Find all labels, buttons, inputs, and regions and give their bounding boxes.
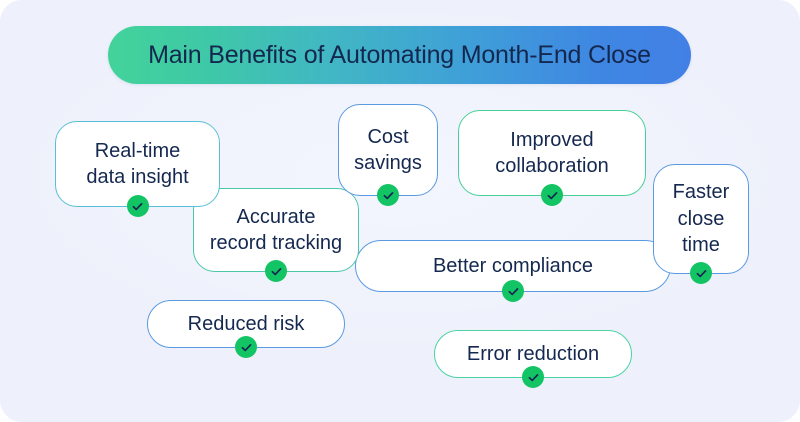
benefit-label: Improved collaboration bbox=[495, 127, 608, 180]
benefit-card-faster[interactable]: Faster close time bbox=[653, 164, 749, 274]
benefit-card-error-reduction[interactable]: Error reduction bbox=[434, 330, 632, 378]
check-circle-icon bbox=[235, 336, 257, 358]
check-circle-icon bbox=[265, 260, 287, 282]
benefit-label: Error reduction bbox=[467, 341, 599, 367]
check-circle-icon bbox=[127, 195, 149, 217]
check-circle-icon bbox=[377, 184, 399, 206]
benefit-card-reduced-risk[interactable]: Reduced risk bbox=[147, 300, 345, 348]
benefit-card-realtime[interactable]: Real-time data insight bbox=[55, 121, 220, 207]
benefit-label: Better compliance bbox=[433, 253, 593, 279]
page-title: Main Benefits of Automating Month-End Cl… bbox=[148, 41, 651, 70]
benefit-card-improved[interactable]: Improved collaboration bbox=[458, 110, 646, 196]
benefit-label: Cost savings bbox=[354, 124, 422, 177]
page-title-banner: Main Benefits of Automating Month-End Cl… bbox=[108, 26, 691, 84]
check-circle-icon bbox=[502, 280, 524, 302]
benefit-card-cost[interactable]: Cost savings bbox=[338, 104, 438, 196]
benefit-card-accurate[interactable]: Accurate record tracking bbox=[193, 188, 359, 272]
infographic-canvas: Main Benefits of Automating Month-End Cl… bbox=[0, 0, 800, 422]
benefit-label: Reduced risk bbox=[188, 311, 305, 337]
benefit-card-compliance[interactable]: Better compliance bbox=[355, 240, 671, 292]
benefit-label: Accurate record tracking bbox=[210, 204, 342, 257]
check-circle-icon bbox=[541, 184, 563, 206]
check-circle-icon bbox=[522, 366, 544, 388]
benefit-label: Real-time data insight bbox=[86, 138, 188, 191]
benefit-label: Faster close time bbox=[673, 179, 730, 258]
check-circle-icon bbox=[690, 262, 712, 284]
